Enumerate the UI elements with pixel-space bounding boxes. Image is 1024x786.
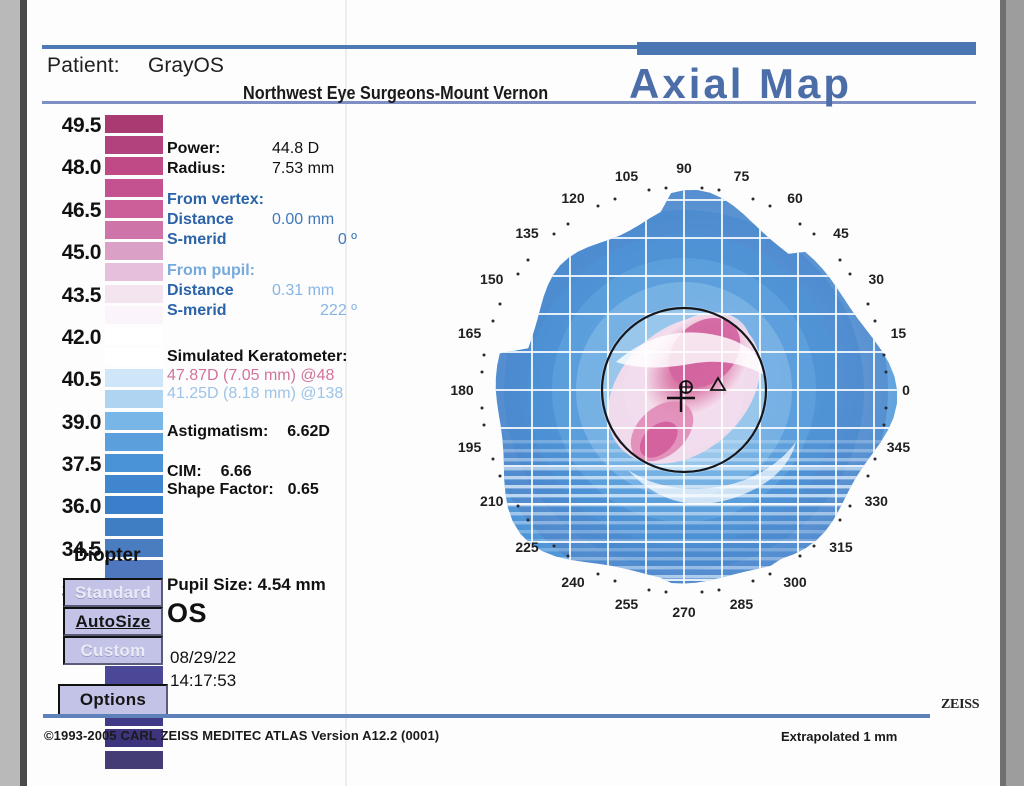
meridian-minor-tick <box>552 544 555 547</box>
color-swatch <box>105 327 163 345</box>
color-swatch <box>105 157 163 175</box>
color-scale-tick-label: 40.5 <box>62 368 101 392</box>
meridian-label-90: 90 <box>676 160 692 176</box>
cim-label: CIM: <box>167 463 202 480</box>
color-swatch <box>105 263 163 281</box>
meridian-minor-tick <box>665 591 668 594</box>
color-scale-tick-label: 37.5 <box>62 453 101 477</box>
color-swatch <box>105 412 163 430</box>
copyright-text: ©1993-2005 CARL ZEISS MEDITEC ATLAS Vers… <box>44 728 439 743</box>
meridian-label-45: 45 <box>833 225 849 241</box>
scan-edge-left-dark <box>20 0 27 786</box>
vertex-smerid-label: S-merid <box>167 231 227 249</box>
diopter-color-scale: 49.548.046.545.043.542.040.539.037.536.0… <box>105 114 163 771</box>
vertex-distance-label: Distance <box>167 211 234 229</box>
radius-row: Radius: 7.53 mm <box>167 160 382 180</box>
pupil-distance-label: Distance <box>167 282 234 300</box>
scan-stripe <box>450 485 950 488</box>
meridian-label-75: 75 <box>734 168 750 184</box>
meridian-label-330: 330 <box>865 493 888 509</box>
vertex-distance-value: 0.00 mm <box>272 211 334 229</box>
power-value: 44.8 D <box>272 140 319 158</box>
footer-rule <box>43 714 930 718</box>
meridian-minor-tick <box>882 353 885 356</box>
color-scale-band: 36.0 <box>105 495 163 516</box>
color-swatch <box>105 666 163 684</box>
scan-stripe <box>450 566 950 569</box>
color-scale-band <box>105 305 163 326</box>
meridian-minor-tick <box>647 588 650 591</box>
meridian-minor-tick <box>799 222 802 225</box>
color-swatch <box>105 136 163 154</box>
patient-name: GrayOS <box>148 54 224 78</box>
meridian-minor-tick <box>597 205 600 208</box>
meridian-label-255: 255 <box>615 596 638 612</box>
color-scale-band: 43.5 <box>105 284 163 305</box>
meridian-minor-tick <box>492 319 495 322</box>
meridian-label-105: 105 <box>615 168 638 184</box>
meridian-minor-tick <box>492 458 495 461</box>
color-scale-band: 37.5 <box>105 453 163 474</box>
spacer <box>167 441 382 463</box>
color-scale-caption: Diopter <box>74 545 141 567</box>
meridian-minor-tick <box>527 258 530 261</box>
shape-factor-label: Shape Factor: <box>167 481 274 498</box>
meridian-label-30: 30 <box>868 271 884 287</box>
meridian-minor-tick <box>700 186 703 189</box>
power-row: Power: 44.8 D <box>167 140 382 160</box>
scan-stripe <box>450 521 950 524</box>
autosize-scale-button[interactable]: AutoSize <box>63 607 163 636</box>
meridian-label-270: 270 <box>672 604 695 620</box>
vertex-distance-row: Distance 0.00 mm <box>167 211 382 231</box>
pupil-size-value: Pupil Size: 4.54 mm <box>167 575 326 595</box>
meridian-label-120: 120 <box>561 190 584 206</box>
meridian-minor-tick <box>700 591 703 594</box>
color-scale-band <box>105 389 163 410</box>
astigmatism-value: 6.62D <box>287 423 330 440</box>
meridian-minor-tick <box>566 222 569 225</box>
meridian-minor-tick <box>849 272 852 275</box>
spacer <box>167 403 382 423</box>
scan-stripe <box>450 575 950 578</box>
meridian-minor-tick <box>885 406 888 409</box>
color-swatch <box>105 433 163 451</box>
scan-stripe <box>450 530 950 533</box>
color-scale-tick-label: 42.0 <box>62 326 101 350</box>
meridian-label-240: 240 <box>561 574 584 590</box>
topography-heatmap <box>430 140 970 660</box>
color-scale-band <box>105 517 163 538</box>
meridian-minor-tick <box>768 205 771 208</box>
scanned-report-page: Patient: GrayOS Northwest Eye Surgeons-M… <box>0 0 1024 786</box>
color-swatch <box>105 751 163 769</box>
meridian-label-285: 285 <box>730 596 753 612</box>
simk-flat-value: 41.25D (8.18 mm) @138 <box>167 385 382 403</box>
color-swatch <box>105 221 163 239</box>
meridian-label-210: 210 <box>480 493 503 509</box>
color-scale-band: 46.5 <box>105 199 163 220</box>
color-swatch <box>105 496 163 514</box>
meridian-label-195: 195 <box>458 439 481 455</box>
color-scale-band <box>105 178 163 199</box>
meridian-label-150: 150 <box>480 271 503 287</box>
color-swatch <box>105 242 163 260</box>
from-vertex-label: From vertex: <box>167 191 264 209</box>
color-scale-tick-label: 45.0 <box>62 241 101 265</box>
meridian-minor-tick <box>499 474 502 477</box>
color-scale-band: 42.0 <box>105 326 163 347</box>
scan-stripe <box>450 476 950 479</box>
color-scale-band <box>105 347 163 368</box>
meridian-minor-tick <box>866 474 869 477</box>
meridian-minor-tick <box>718 189 721 192</box>
color-scale-band <box>105 474 163 495</box>
meridian-label-165: 165 <box>458 325 481 341</box>
color-scale-band: 45.0 <box>105 241 163 262</box>
meridian-minor-tick <box>799 555 802 558</box>
meridian-label-15: 15 <box>891 325 907 341</box>
meridian-minor-tick <box>597 572 600 575</box>
meridian-minor-tick <box>552 233 555 236</box>
radius-label: Radius: <box>167 160 226 178</box>
zeiss-logo: ZEISS <box>941 697 979 713</box>
options-button[interactable]: Options <box>58 684 168 716</box>
color-scale-band: 49.5 <box>105 114 163 135</box>
meridian-minor-tick <box>516 505 519 508</box>
header-rule-thin <box>42 45 637 49</box>
shape-factor-value: 0.65 <box>288 481 319 498</box>
scan-stripe <box>450 557 950 560</box>
from-pupil-row: From pupil: <box>167 262 382 282</box>
color-scale-tick-label: 49.5 <box>62 114 101 138</box>
meridian-minor-tick <box>718 588 721 591</box>
meridian-minor-tick <box>665 186 668 189</box>
color-swatch <box>105 475 163 493</box>
pupil-smerid-row: S-merid 222 º <box>167 302 382 322</box>
color-swatch <box>105 369 163 387</box>
meridian-label-180: 180 <box>450 382 473 398</box>
color-swatch <box>105 454 163 472</box>
cim-value: 6.66 <box>221 463 252 480</box>
meridian-minor-tick <box>838 519 841 522</box>
color-scale-tick-label: 46.5 <box>62 199 101 223</box>
color-scale-tick-label: 43.5 <box>62 284 101 308</box>
meridian-minor-tick <box>813 233 816 236</box>
meridian-minor-tick <box>768 572 771 575</box>
pupil-distance-row: Distance 0.31 mm <box>167 282 382 302</box>
meridian-label-300: 300 <box>783 574 806 590</box>
from-vertex-row: From vertex: <box>167 191 382 211</box>
meridian-minor-tick <box>516 272 519 275</box>
color-scale-band <box>105 665 163 686</box>
corneal-topography-map[interactable]: 0153045607590105120135150165180195210225… <box>430 140 970 660</box>
spacer <box>167 180 382 191</box>
astigmatism-label: Astigmatism: <box>167 423 268 440</box>
color-swatch <box>105 348 163 366</box>
exam-date: 08/29/22 <box>170 648 236 668</box>
color-scale-tick-label: 36.0 <box>62 495 101 519</box>
vertex-smerid-row: S-merid 0 º <box>167 231 382 251</box>
meridian-label-315: 315 <box>829 539 852 555</box>
color-swatch <box>105 179 163 197</box>
color-scale-band: 39.0 <box>105 411 163 432</box>
meridian-minor-tick <box>480 406 483 409</box>
standard-scale-button[interactable]: Standard <box>63 578 163 607</box>
meridian-minor-tick <box>483 353 486 356</box>
exam-time: 14:17:53 <box>170 671 236 691</box>
shape-factor-row: Shape Factor: 0.65 <box>167 481 382 499</box>
scan-edge-right-gray <box>1006 0 1024 786</box>
pupil-smerid-label: S-merid <box>167 302 227 320</box>
meridian-minor-tick <box>838 258 841 261</box>
vertex-smerid-value: 0 º <box>272 231 357 249</box>
color-scale-band <box>105 220 163 241</box>
color-swatch <box>105 200 163 218</box>
meridian-minor-tick <box>647 189 650 192</box>
meridian-minor-tick <box>849 505 852 508</box>
color-swatch <box>105 390 163 408</box>
cornea-surface <box>430 140 970 660</box>
scan-stripe <box>450 602 950 605</box>
color-scale-tick-label: 48.0 <box>62 156 101 180</box>
meridian-minor-tick <box>480 371 483 374</box>
meridian-minor-tick <box>527 519 530 522</box>
meridian-minor-tick <box>613 579 616 582</box>
pupil-distance-value: 0.31 mm <box>272 282 334 300</box>
color-swatch <box>105 518 163 536</box>
power-label: Power: <box>167 140 220 158</box>
color-scale-band: 48.0 <box>105 156 163 177</box>
color-scale-band <box>105 135 163 156</box>
simk-label: Simulated Keratometer: <box>167 348 382 366</box>
radius-value: 7.53 mm <box>272 160 334 178</box>
meridian-minor-tick <box>885 371 888 374</box>
color-swatch <box>105 306 163 324</box>
meridian-minor-tick <box>882 424 885 427</box>
pupil-smerid-value: 222 º <box>272 302 357 320</box>
meridian-minor-tick <box>873 458 876 461</box>
header-rule-thick <box>637 42 976 55</box>
scan-stripe <box>450 512 950 515</box>
meridian-minor-tick <box>613 198 616 201</box>
meridian-label-135: 135 <box>515 225 538 241</box>
color-swatch <box>105 285 163 303</box>
meridian-minor-tick <box>752 579 755 582</box>
meridian-minor-tick <box>752 198 755 201</box>
meridian-minor-tick <box>499 303 502 306</box>
meridian-label-60: 60 <box>787 190 803 206</box>
spacer <box>167 251 382 262</box>
color-scale-band <box>105 262 163 283</box>
spacer <box>167 322 382 348</box>
meridian-minor-tick <box>813 544 816 547</box>
eye-laterality: OS <box>167 598 207 629</box>
meridian-label-0: 0 <box>902 382 910 398</box>
meridian-label-345: 345 <box>887 439 910 455</box>
meridian-minor-tick <box>866 303 869 306</box>
color-scale-band <box>105 432 163 453</box>
custom-scale-button[interactable]: Custom <box>63 636 163 665</box>
page-title: Axial Map <box>629 60 852 108</box>
simk-steep-value: 47.87D (7.05 mm) @48 <box>167 367 382 385</box>
color-scale-band: 40.5 <box>105 368 163 389</box>
color-scale-tick-label: 39.0 <box>62 411 101 435</box>
patient-label: Patient: <box>47 54 120 78</box>
scan-stripe <box>450 584 950 587</box>
scan-edge-left-gray <box>0 0 20 786</box>
meridian-minor-tick <box>873 319 876 322</box>
meridian-label-225: 225 <box>515 539 538 555</box>
cim-row: CIM: 6.66 <box>167 463 382 481</box>
astigmatism-row: Astigmatism: 6.62D <box>167 423 382 441</box>
color-scale-band <box>105 750 163 771</box>
extrapolated-note: Extrapolated 1 mm <box>781 729 897 744</box>
measurements-panel: Power: 44.8 D Radius: 7.53 mm From verte… <box>167 140 382 499</box>
clinic-name: Northwest Eye Surgeons-Mount Vernon <box>243 83 548 104</box>
from-pupil-label: From pupil: <box>167 262 255 280</box>
meridian-minor-tick <box>483 424 486 427</box>
color-swatch <box>105 115 163 133</box>
meridian-minor-tick <box>566 555 569 558</box>
